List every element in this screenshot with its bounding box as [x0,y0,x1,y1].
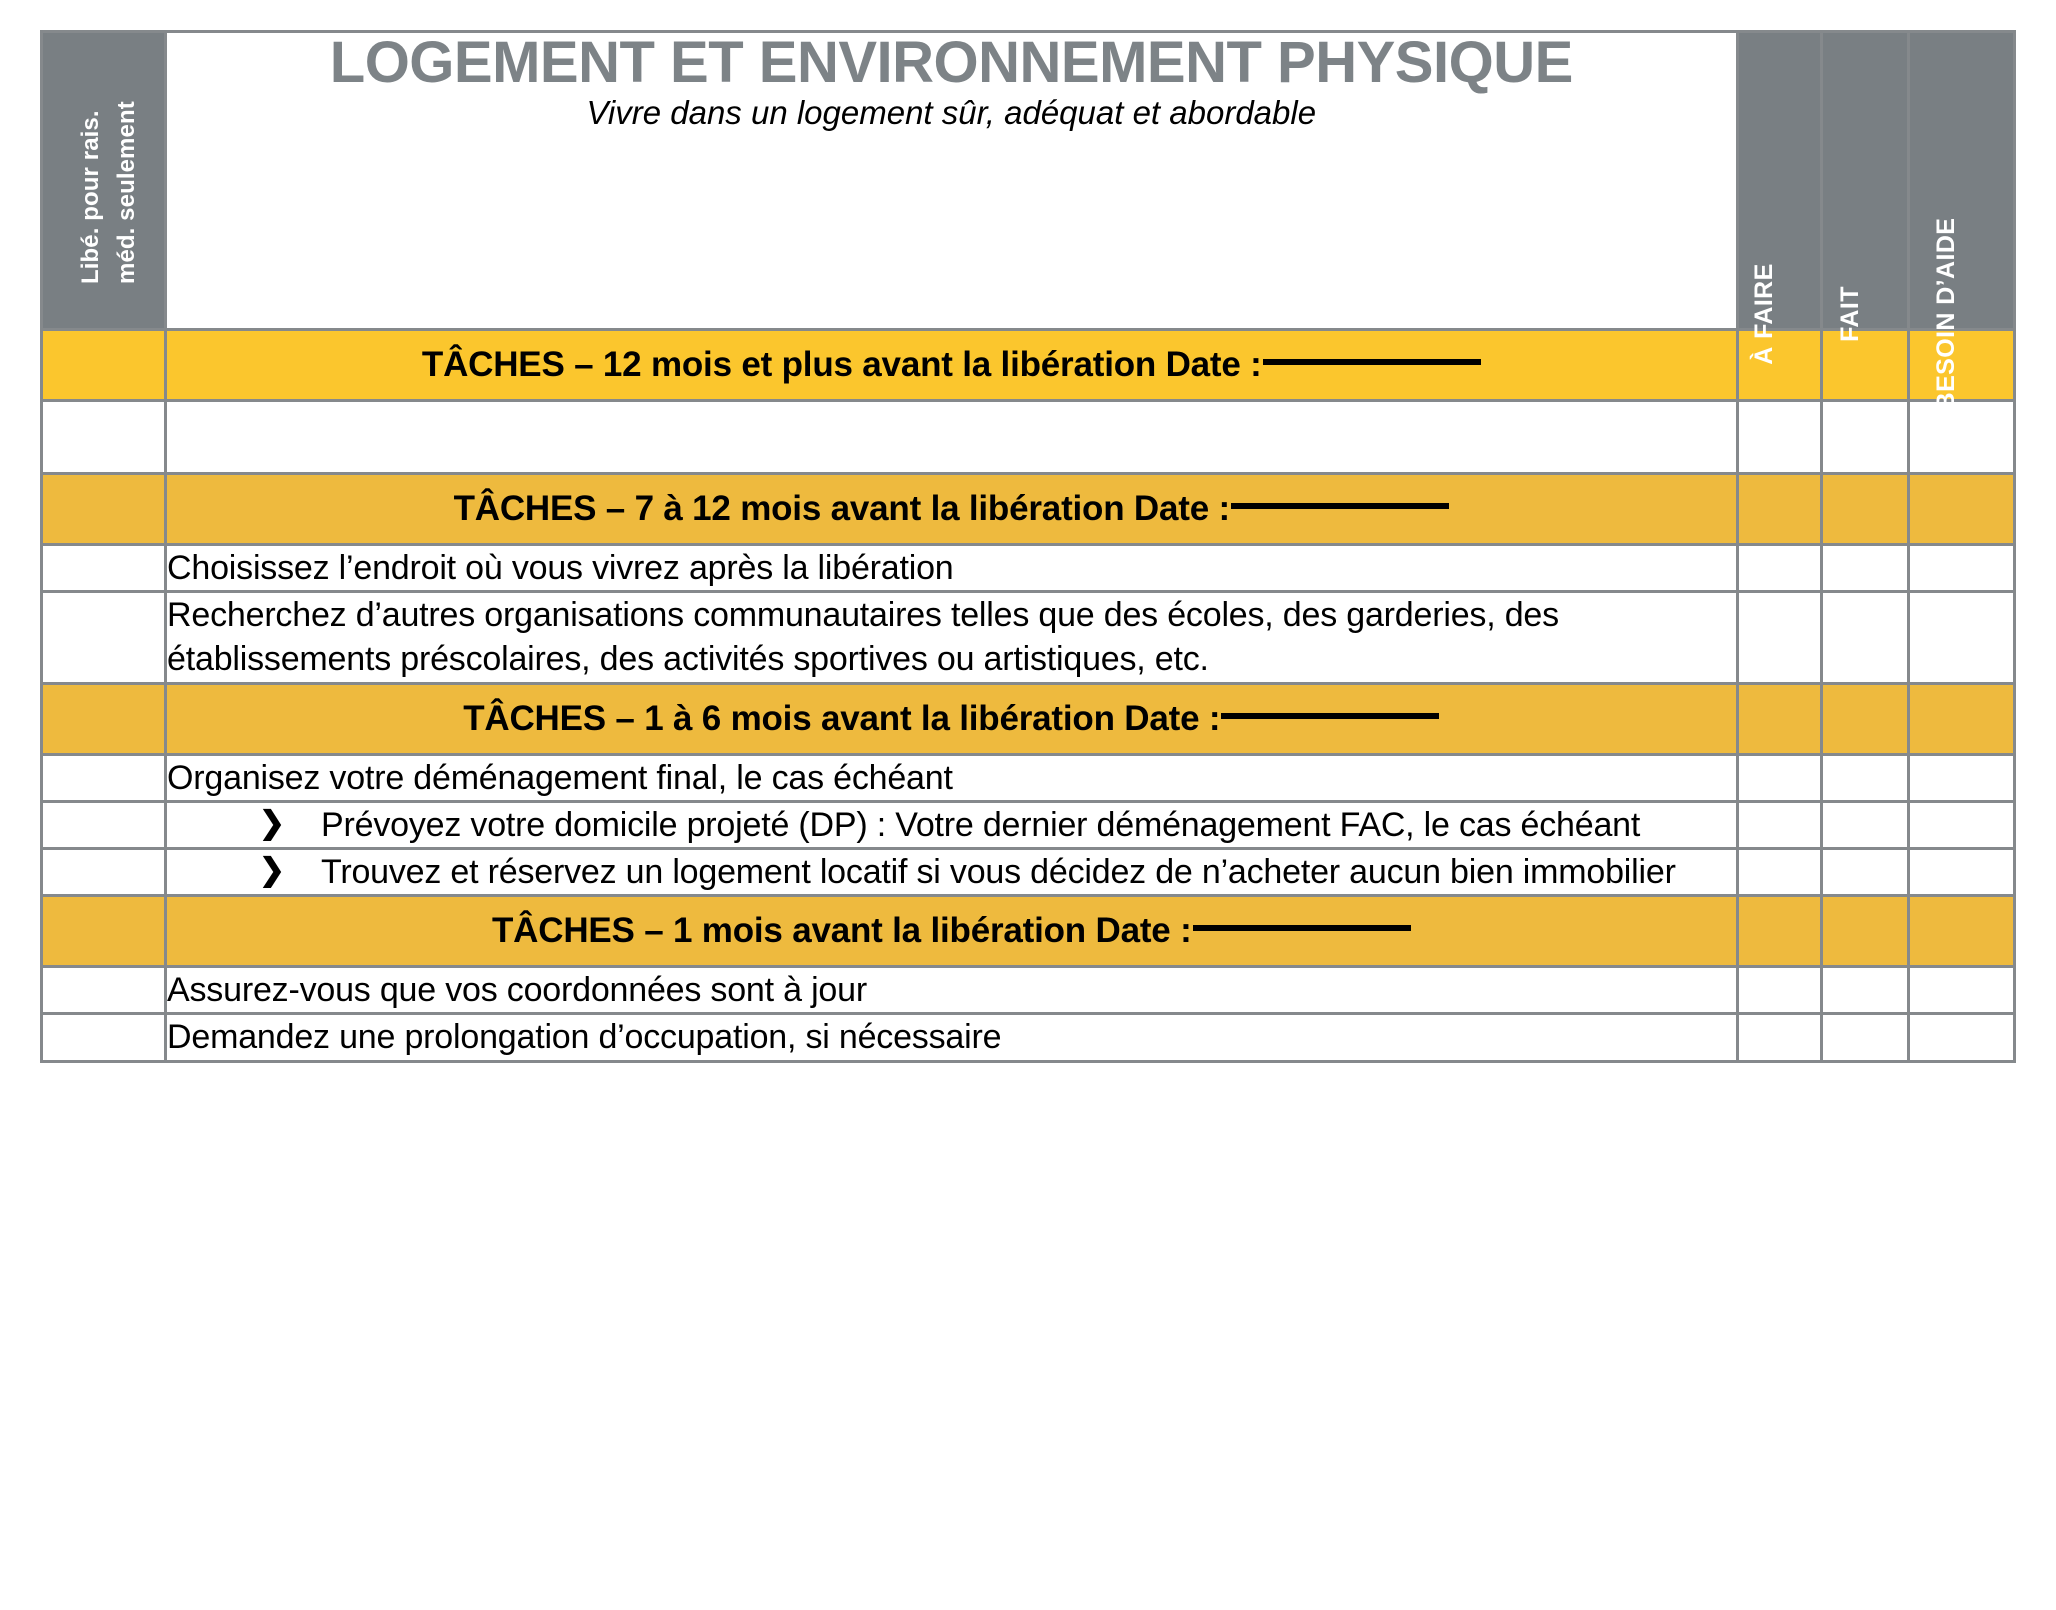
table-header-row: Libé. pour rais. méd. seulement LOGEMENT… [42,32,2015,330]
task-cell: Demandez une prolongation d’occupation, … [166,1014,1737,1061]
task-cell: Organisez votre déménagement final, le c… [166,754,1737,801]
chevron-right-icon: ❯ [259,850,321,890]
section-heading-label: TÂCHES – 1 à 6 mois avant la libération … [463,699,1220,739]
medical-release-checkbox[interactable] [42,1014,166,1061]
checklist-sheet: Libé. pour rais. méd. seulement LOGEMENT… [40,30,2016,1540]
section-heading-cell: TÂCHES – 12 mois et plus avant la libéra… [166,330,1737,401]
checkbox-cell-a-faire[interactable] [1737,754,1821,801]
table-row: Demandez une prolongation d’occupation, … [42,1014,2015,1061]
task-cell: Recherchez d’autres organisations commun… [166,592,1737,683]
task-label: Choisissez l’endroit où vous vivrez aprè… [167,546,1735,590]
task-cell: Assurez-vous que vos coordonnées sont à … [166,967,1737,1014]
checkbox-cell-fait[interactable] [1821,545,1908,592]
section-checkbox-cell-besoin-daide [1908,896,2014,967]
checkbox-cell-besoin-daide[interactable] [1908,967,2014,1014]
section-heading-cell: TÂCHES – 1 mois avant la libération Date… [166,896,1737,967]
checkbox-cell-besoin-daide[interactable] [1908,401,2014,474]
medical-release-checkbox[interactable] [42,967,166,1014]
date-blank-field[interactable] [1263,359,1481,365]
task-label: Trouvez et réservez un logement locatif … [321,850,1735,894]
checkbox-cell-fait[interactable] [1821,967,1908,1014]
section-checkbox-cell-fait [1821,683,1908,754]
medical-release-checkbox[interactable] [42,545,166,592]
checklist-table: Libé. pour rais. méd. seulement LOGEMENT… [40,30,2016,1063]
column-header-besoin-daide: BESOIN D’AIDE [1908,32,2014,330]
task-label: Recherchez d’autres organisations commun… [167,593,1735,681]
table-row: ❯Trouvez et réservez un logement locatif… [42,848,2015,895]
section-flag-cell [42,896,166,967]
section-checkbox-cell-a-faire [1737,896,1821,967]
medical-release-checkbox[interactable] [42,801,166,848]
table-row: Recherchez d’autres organisations commun… [42,592,2015,683]
section-heading-cell: TÂCHES – 1 à 6 mois avant la libération … [166,683,1737,754]
table-row: Choisissez l’endroit où vous vivrez aprè… [42,545,2015,592]
section-checkbox-cell-a-faire [1737,683,1821,754]
medical-release-checkbox[interactable] [42,754,166,801]
checkbox-cell-besoin-daide[interactable] [1908,545,2014,592]
checkbox-cell-a-faire[interactable] [1737,1014,1821,1061]
section-flag-cell [42,330,166,401]
medical-release-flag-header: Libé. pour rais. méd. seulement [42,32,166,330]
checkbox-cell-besoin-daide[interactable] [1908,1014,2014,1061]
task-label: Organisez votre déménagement final, le c… [167,756,1735,800]
table-row [42,401,2015,474]
section-flag-cell [42,474,166,545]
table-row: Assurez-vous que vos coordonnées sont à … [42,967,2015,1014]
column-header-label: À FAIRE [1750,263,1779,364]
checkbox-cell-fait[interactable] [1821,592,1908,683]
column-header-label: FAIT [1836,286,1865,342]
checkbox-cell-fait[interactable] [1821,801,1908,848]
medical-release-checkbox[interactable] [42,592,166,683]
task-cell [166,401,1737,474]
section-heading-label: TÂCHES – 7 à 12 mois avant la libération… [454,489,1230,529]
section-checkbox-cell-fait [1821,474,1908,545]
column-header-fait: FAIT [1821,32,1908,330]
task-cell: ❯Trouvez et réservez un logement locatif… [166,848,1737,895]
section-flag-cell [42,683,166,754]
checkbox-cell-besoin-daide[interactable] [1908,592,2014,683]
page-title: LOGEMENT ET ENVIRONNEMENT PHYSIQUE [167,33,1735,92]
checkbox-cell-a-faire[interactable] [1737,848,1821,895]
column-header-label: BESOIN D’AIDE [1932,218,1961,411]
section-heading-row: TÂCHES – 1 à 6 mois avant la libération … [42,683,2015,754]
section-checkbox-cell-besoin-daide [1908,330,2014,401]
chevron-right-icon: ❯ [259,803,321,843]
column-header-a-faire: À FAIRE [1737,32,1821,330]
section-checkbox-cell-besoin-daide [1908,474,2014,545]
medical-release-checkbox[interactable] [42,401,166,474]
checkbox-cell-a-faire[interactable] [1737,801,1821,848]
document-title-cell: LOGEMENT ET ENVIRONNEMENT PHYSIQUE Vivre… [166,32,1737,330]
section-heading-row: TÂCHES – 12 mois et plus avant la libéra… [42,330,2015,401]
section-heading-row: TÂCHES – 1 mois avant la libération Date… [42,896,2015,967]
task-label: Assurez-vous que vos coordonnées sont à … [167,968,1735,1012]
section-heading-row: TÂCHES – 7 à 12 mois avant la libération… [42,474,2015,545]
date-blank-field[interactable] [1193,925,1411,931]
checkbox-cell-fait[interactable] [1821,401,1908,474]
table-row: ❯Prévoyez votre domicile projeté (DP) : … [42,801,2015,848]
task-cell: ❯Prévoyez votre domicile projeté (DP) : … [166,801,1737,848]
checkbox-cell-besoin-daide[interactable] [1908,754,2014,801]
section-heading-label: TÂCHES – 12 mois et plus avant la libéra… [422,345,1262,385]
checkbox-cell-besoin-daide[interactable] [1908,848,2014,895]
checkbox-cell-a-faire[interactable] [1737,401,1821,474]
flag-label-line1: Libé. pour rais. [77,110,105,284]
table-row: Organisez votre déménagement final, le c… [42,754,2015,801]
checkbox-cell-besoin-daide[interactable] [1908,801,2014,848]
section-heading-label: TÂCHES – 1 mois avant la libération Date… [492,911,1192,951]
flag-label-line2: méd. seulement [113,101,141,284]
checkbox-cell-fait[interactable] [1821,1014,1908,1061]
medical-release-checkbox[interactable] [42,848,166,895]
task-label: Demandez une prolongation d’occupation, … [167,1015,1735,1059]
section-heading-cell: TÂCHES – 7 à 12 mois avant la libération… [166,474,1737,545]
date-blank-field[interactable] [1231,503,1449,509]
task-label: Prévoyez votre domicile projeté (DP) : V… [321,803,1735,847]
checkbox-cell-a-faire[interactable] [1737,592,1821,683]
checkbox-cell-a-faire[interactable] [1737,967,1821,1014]
section-checkbox-cell-besoin-daide [1908,683,2014,754]
date-blank-field[interactable] [1221,713,1439,719]
checkbox-cell-fait[interactable] [1821,754,1908,801]
checkbox-cell-fait[interactable] [1821,848,1908,895]
task-cell: Choisissez l’endroit où vous vivrez aprè… [166,545,1737,592]
checkbox-cell-a-faire[interactable] [1737,545,1821,592]
page-subtitle: Vivre dans un logement sûr, adéquat et a… [167,96,1735,131]
section-checkbox-cell-fait [1821,896,1908,967]
section-checkbox-cell-a-faire [1737,474,1821,545]
